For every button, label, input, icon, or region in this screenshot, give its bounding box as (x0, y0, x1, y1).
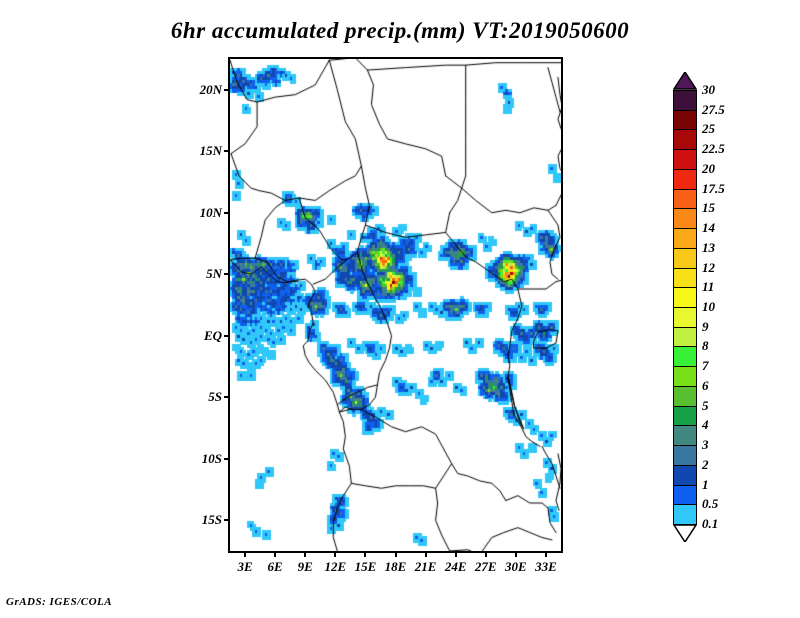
colorbar-label: 6 (702, 378, 709, 394)
colorbar-swatch (673, 504, 697, 525)
x-tick-label: 12E (324, 559, 346, 575)
colorbar-swatch (673, 465, 697, 486)
colorbar-label: 9 (702, 319, 709, 335)
y-tick-label: EQ (166, 328, 222, 344)
x-tick (274, 551, 276, 557)
colorbar-label: 8 (702, 338, 709, 354)
colorbar-label: 25 (702, 121, 715, 137)
x-tick (425, 551, 427, 557)
y-tick-label: 10N (166, 205, 222, 221)
colorbar-label: 1 (702, 477, 709, 493)
y-tick (224, 519, 230, 521)
colorbar-label: 10 (702, 299, 715, 315)
y-tick-label: 5S (166, 389, 222, 405)
colorbar-label: 12 (702, 260, 715, 276)
y-tick (224, 89, 230, 91)
colorbar-swatch (673, 327, 697, 348)
x-tick (364, 551, 366, 557)
map-plot-area (228, 57, 563, 553)
y-tick (224, 273, 230, 275)
x-tick (334, 551, 336, 557)
y-tick (224, 335, 230, 337)
x-tick-label: 33E (535, 559, 557, 575)
x-tick (395, 551, 397, 557)
colorbar-label: 7 (702, 358, 709, 374)
y-tick (224, 212, 230, 214)
colorbar-label: 11 (702, 279, 714, 295)
x-tick-label: 30E (505, 559, 527, 575)
colorbar-label: 15 (702, 200, 715, 216)
x-tick-label: 24E (445, 559, 467, 575)
colorbar-label: 20 (702, 161, 715, 177)
colorbar-swatch (673, 248, 697, 269)
x-tick (455, 551, 457, 557)
colorbar-under-cap (673, 524, 697, 542)
colorbar-label: 0.1 (702, 516, 718, 532)
colorbar-swatch (673, 189, 697, 210)
colorbar-label: 4 (702, 417, 709, 433)
x-tick-label: 6E (268, 559, 283, 575)
x-tick-label: 15E (355, 559, 377, 575)
y-tick-label: 10S (166, 451, 222, 467)
y-tick-label: 20N (166, 82, 222, 98)
colorbar-label: 2 (702, 457, 709, 473)
colorbar-label: 22.5 (702, 141, 725, 157)
x-tick (244, 551, 246, 557)
x-tick-label: 21E (415, 559, 437, 575)
x-tick (545, 551, 547, 557)
colorbar-label: 5 (702, 398, 709, 414)
colorbar-swatch (673, 129, 697, 150)
chart-title: 6hr accumulated precip.(mm) VT:201905060… (0, 18, 800, 44)
colorbar-label: 3 (702, 437, 709, 453)
x-tick-label: 18E (385, 559, 407, 575)
colorbar-swatch (673, 208, 697, 229)
x-tick-label: 9E (298, 559, 313, 575)
colorbar-label: 0.5 (702, 496, 718, 512)
colorbar-label: 27.5 (702, 102, 725, 118)
precipitation-map-canvas (230, 59, 561, 551)
colorbar-label: 14 (702, 220, 715, 236)
credit-text: GrADS: IGES/COLA (6, 596, 112, 608)
colorbar-swatch (673, 169, 697, 190)
colorbar-over-cap (673, 72, 697, 90)
x-tick-label: 3E (237, 559, 252, 575)
colorbar-swatch (673, 149, 697, 170)
colorbar-swatch (673, 425, 697, 446)
y-tick (224, 150, 230, 152)
y-tick-label: 5N (166, 266, 222, 282)
colorbar-swatch (673, 445, 697, 466)
colorbar-swatch (673, 366, 697, 387)
colorbar-label: 17.5 (702, 181, 725, 197)
y-tick-label: 15S (166, 512, 222, 528)
colorbar-label: 30 (702, 82, 715, 98)
colorbar-label: 13 (702, 240, 715, 256)
y-tick (224, 396, 230, 398)
colorbar-swatch (673, 307, 697, 328)
x-tick (304, 551, 306, 557)
colorbar-swatch (673, 406, 697, 427)
colorbar (673, 72, 697, 542)
colorbar-swatch (673, 90, 697, 111)
colorbar-swatch (673, 228, 697, 249)
colorbar-swatch (673, 268, 697, 289)
x-tick-label: 27E (475, 559, 497, 575)
colorbar-swatch (673, 485, 697, 506)
y-tick (224, 458, 230, 460)
colorbar-swatch (673, 287, 697, 308)
colorbar-swatch (673, 110, 697, 131)
colorbar-swatch (673, 346, 697, 367)
colorbar-swatch (673, 386, 697, 407)
x-tick (485, 551, 487, 557)
x-tick (515, 551, 517, 557)
y-tick-label: 15N (166, 143, 222, 159)
